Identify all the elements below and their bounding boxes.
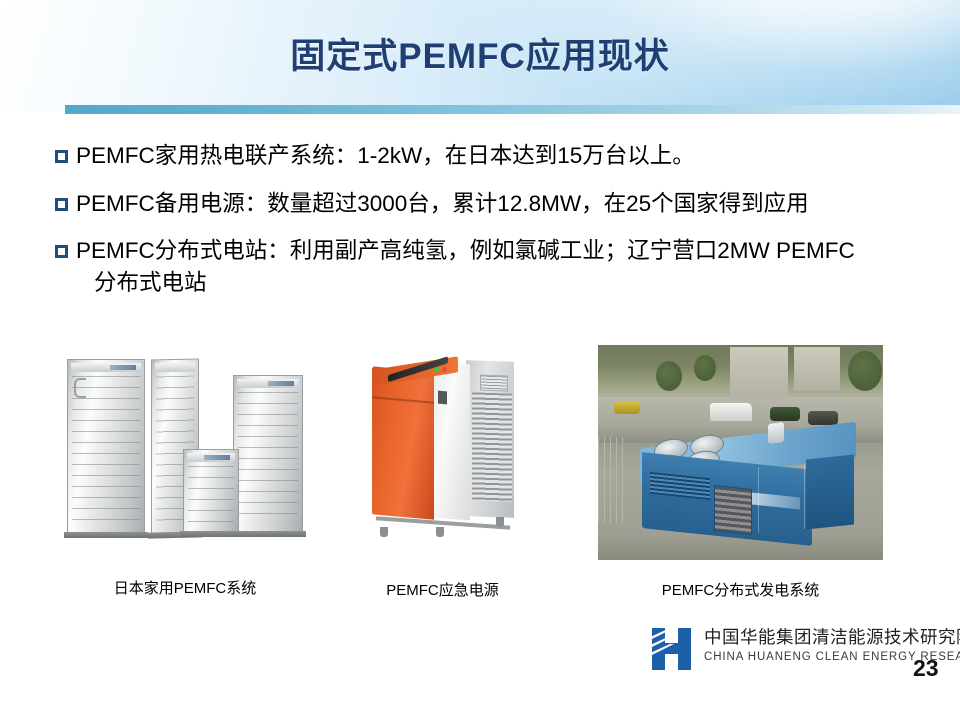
tree (656, 361, 682, 391)
hollow-square-bullet-icon (55, 150, 68, 163)
blue-container-unit (640, 435, 856, 543)
base-leg (436, 527, 444, 537)
page-title: 固定式PEMFC应用现状 (0, 28, 960, 79)
cabinet-louvre-slats (72, 376, 140, 523)
ventilation-grille (472, 392, 512, 501)
bullet-item: PEMFC分布式电站：利用副产高纯氢，例如氯碱工业；辽宁营口2MW PEMFC … (55, 235, 925, 298)
fence (598, 437, 624, 523)
cabinet-louvre-slats (188, 466, 234, 522)
bullet-item: PEMFC备用电源：数量超过3000台，累计12.8MW，在25个国家得到应用 (55, 188, 925, 220)
cabinet-unit-tall (233, 375, 303, 533)
organization-name-cn: 中国华能集团清洁能源技术研究院 (704, 624, 960, 649)
base-leg (380, 527, 388, 537)
figure-row: 日本家用PEMFC系统 (0, 345, 960, 610)
bullet-list: PEMFC家用热电联产系统：1-2kW，在日本达到15万台以上。 PEMFC备用… (55, 140, 925, 314)
figure-pemfc-distributed-generation (598, 345, 883, 560)
bullet-line: PEMFC分布式电站：利用副产高纯氢，例如氯碱工业；辽宁营口2MW PEMFC (76, 238, 855, 263)
cabinet-brand-badge (204, 455, 230, 460)
cabinet-brand-badge (110, 365, 136, 370)
cabinet-unit-small (183, 449, 239, 533)
figure-caption-2: PEMFC应急电源 (350, 579, 535, 600)
cabinet-base (64, 532, 148, 538)
header-divider (65, 105, 960, 114)
container-side-wall (806, 454, 854, 529)
top-vent-panel (480, 375, 508, 392)
slide: 固定式PEMFC应用现状 PEMFC家用热电联产系统：1-2kW，在日本达到15… (0, 0, 960, 720)
power-unit-white-panel (430, 362, 470, 521)
bullet-text: PEMFC分布式电站：利用副产高纯氢，例如氯碱工业；辽宁营口2MW PEMFC … (76, 235, 855, 298)
figure-caption-3: PEMFC分布式发电系统 (598, 579, 883, 600)
panel-seam (804, 465, 805, 529)
exhaust-stack (768, 422, 784, 444)
tree (694, 355, 716, 381)
slide-header: 固定式PEMFC应用现状 (0, 0, 960, 112)
figure-caption-1: 日本家用PEMFC系统 (55, 577, 315, 598)
figure-japan-residential-pemfc (55, 345, 315, 560)
cabinet-unit-large (67, 359, 145, 534)
cabinet-louvre-slats (238, 392, 298, 522)
figure-pemfc-emergency-power (350, 345, 535, 563)
building (794, 347, 840, 391)
power-unit-orange-panel (372, 366, 434, 519)
huaneng-h-logo-icon (648, 626, 696, 672)
cabinet-handle-icon (74, 378, 86, 398)
bullet-item: PEMFC家用热电联产系统：1-2kW，在日本达到15万台以上。 (55, 140, 925, 172)
footer-branding: 中国华能集团清洁能源技术研究院 CHINA HUANENG CLEAN ENER… (648, 622, 948, 678)
bullet-text: PEMFC家用热电联产系统：1-2kW，在日本达到15万台以上。 (76, 140, 695, 172)
page-number: 23 (913, 655, 939, 682)
white-van (710, 403, 752, 421)
bullet-text: PEMFC备用电源：数量超过3000台，累计12.8MW，在25个国家得到应用 (76, 188, 809, 220)
parked-car (770, 407, 800, 421)
building (730, 347, 788, 399)
container-open-door (714, 485, 752, 535)
bullet-line: PEMFC备用电源：数量超过3000台，累计12.8MW，在25个国家得到应用 (76, 191, 809, 216)
cabinet-brand-badge (268, 381, 294, 386)
parked-car (808, 411, 838, 425)
bullet-line-continued: 分布式电站 (76, 267, 855, 299)
cabinet-base (180, 531, 242, 537)
tree (848, 351, 882, 391)
hollow-square-bullet-icon (55, 198, 68, 211)
parked-car (614, 401, 640, 414)
cabinet-top-panel (155, 363, 195, 373)
control-panel-slot (438, 391, 447, 405)
base-leg (496, 517, 504, 527)
hollow-square-bullet-icon (55, 245, 68, 258)
bullet-line: PEMFC家用热电联产系统：1-2kW，在日本达到15万台以上。 (76, 143, 695, 168)
panel-seam (758, 467, 759, 533)
power-unit-base-frame (376, 513, 510, 535)
power-unit-body (372, 363, 512, 533)
